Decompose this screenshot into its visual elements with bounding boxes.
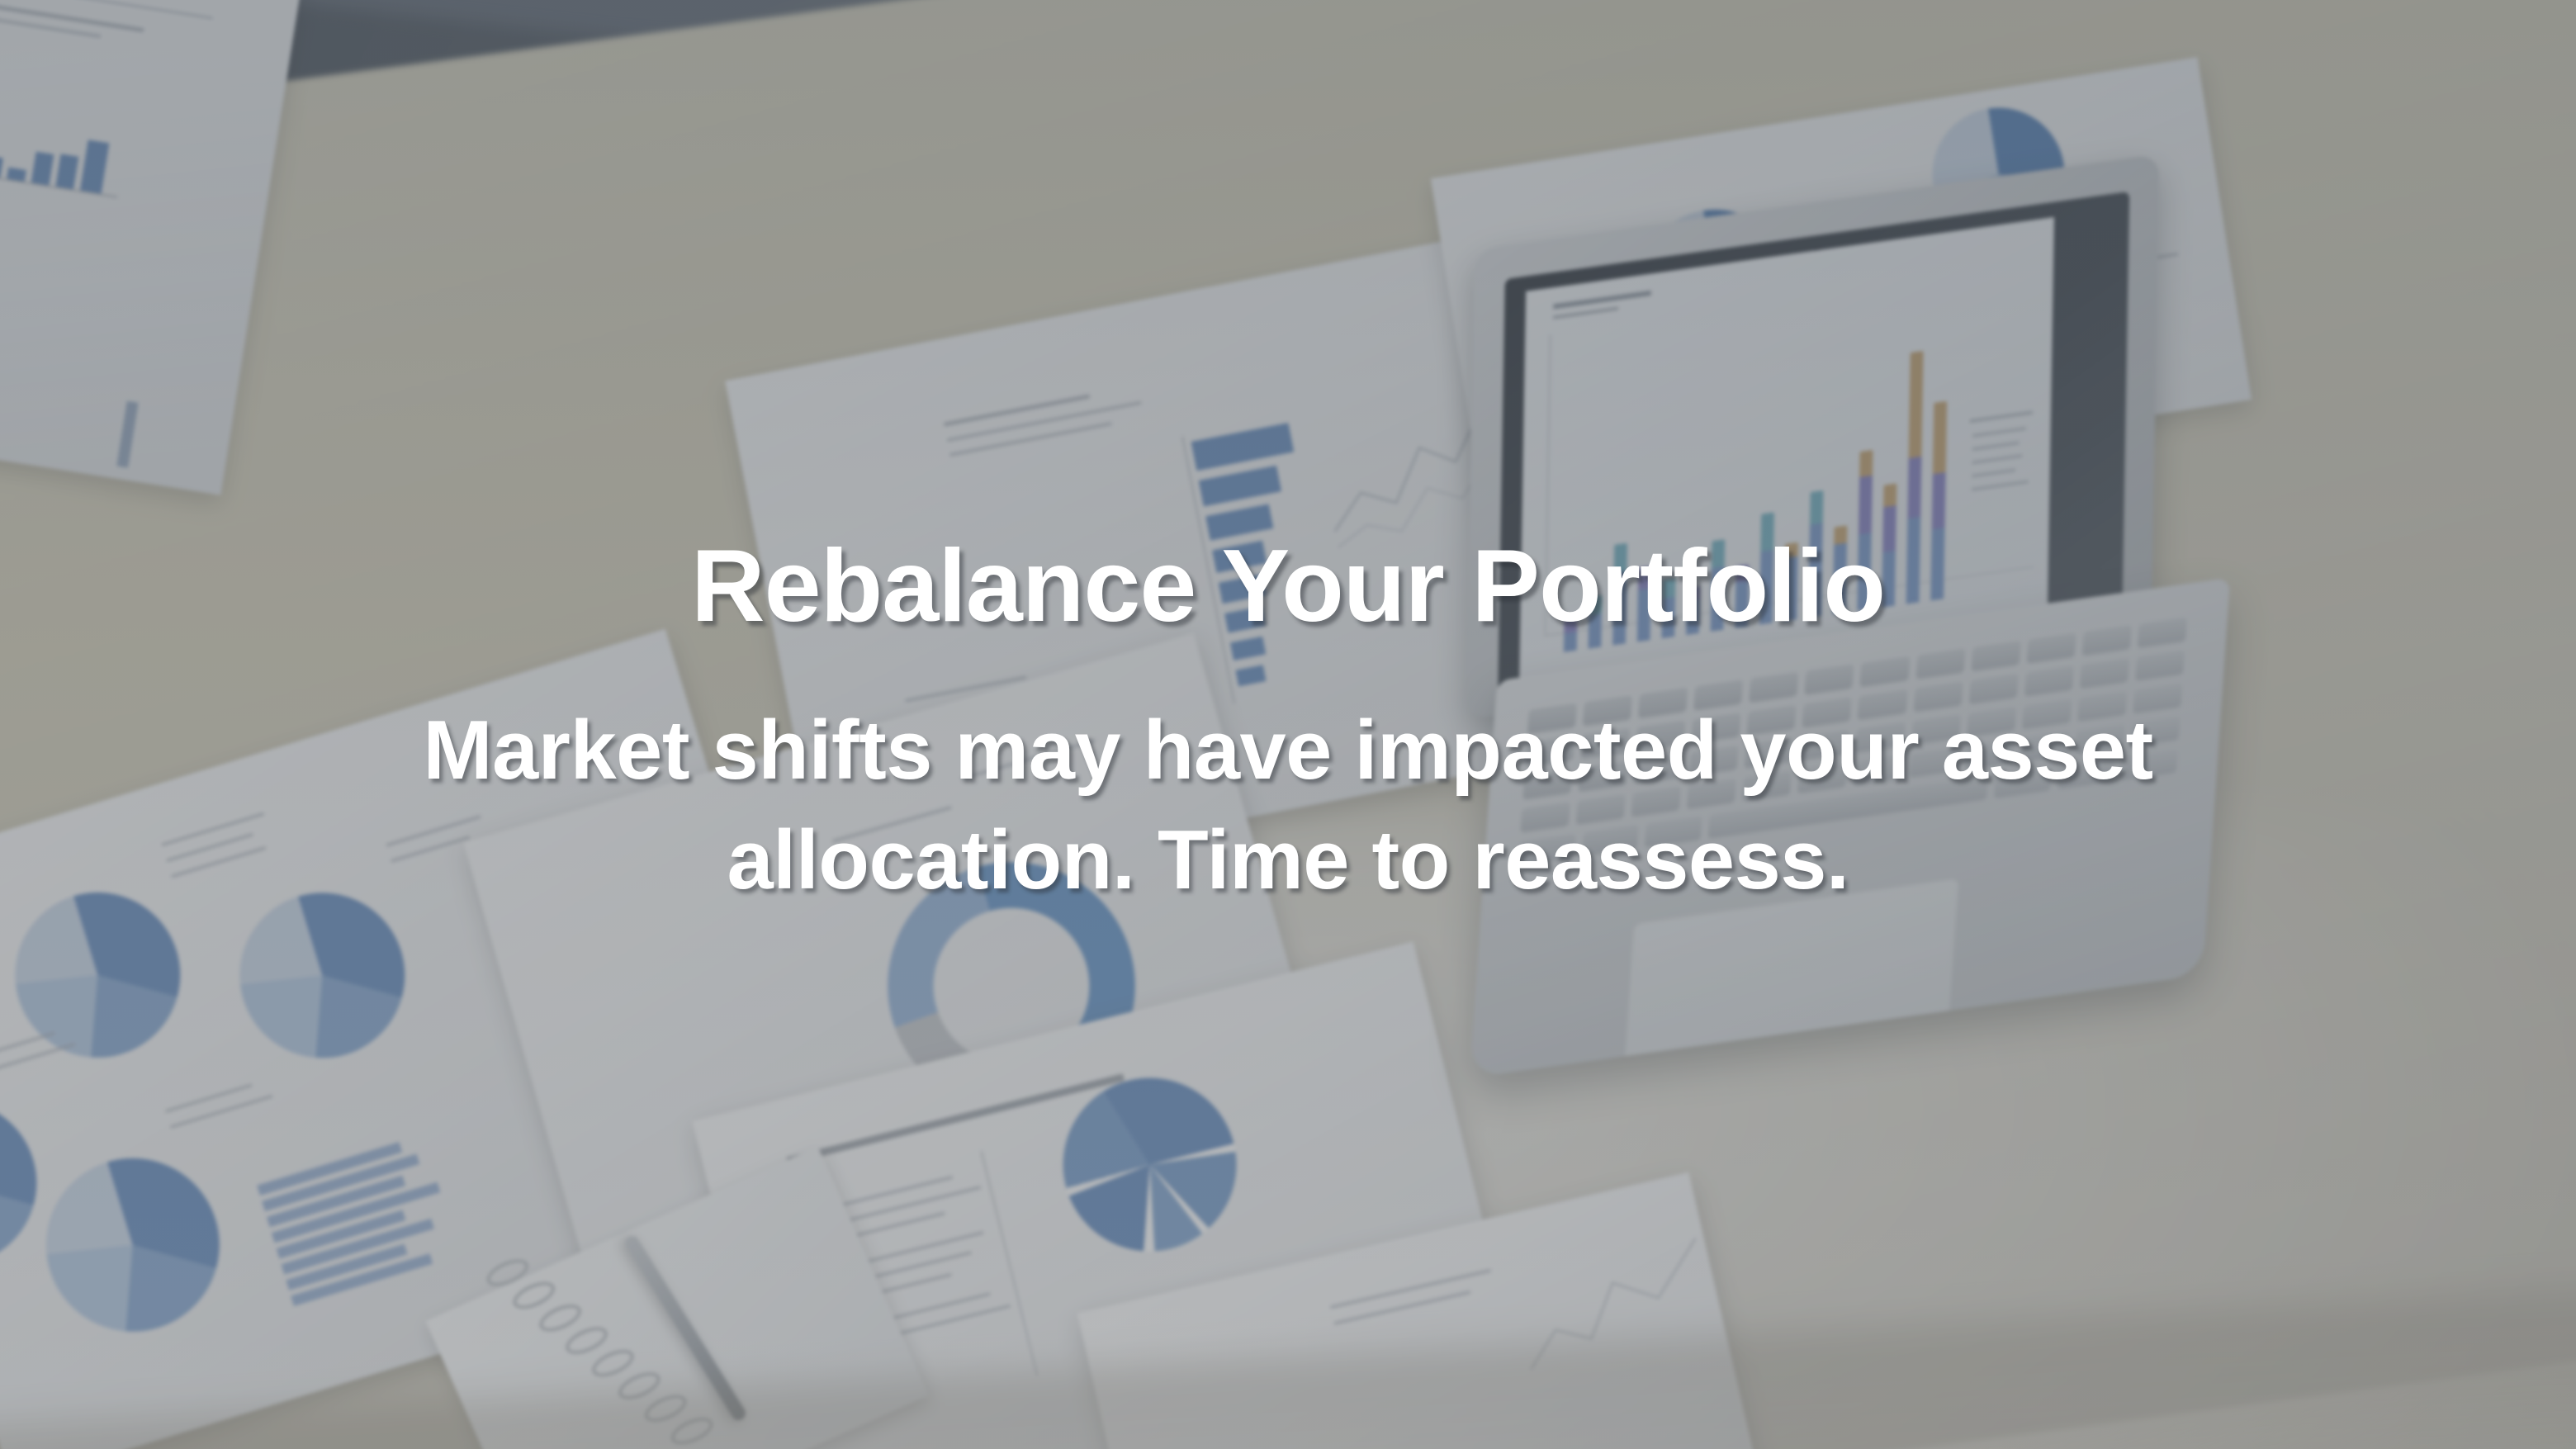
hero-text-block: Rebalance Your Portfolio Market shifts m… [0, 0, 2576, 1449]
page-subtitle: Market shifts may have impacted your ass… [297, 696, 2279, 916]
page-title: Rebalance Your Portfolio [691, 533, 1885, 641]
hero-slide: Rebalance Your Portfolio Market shifts m… [0, 0, 2576, 1449]
